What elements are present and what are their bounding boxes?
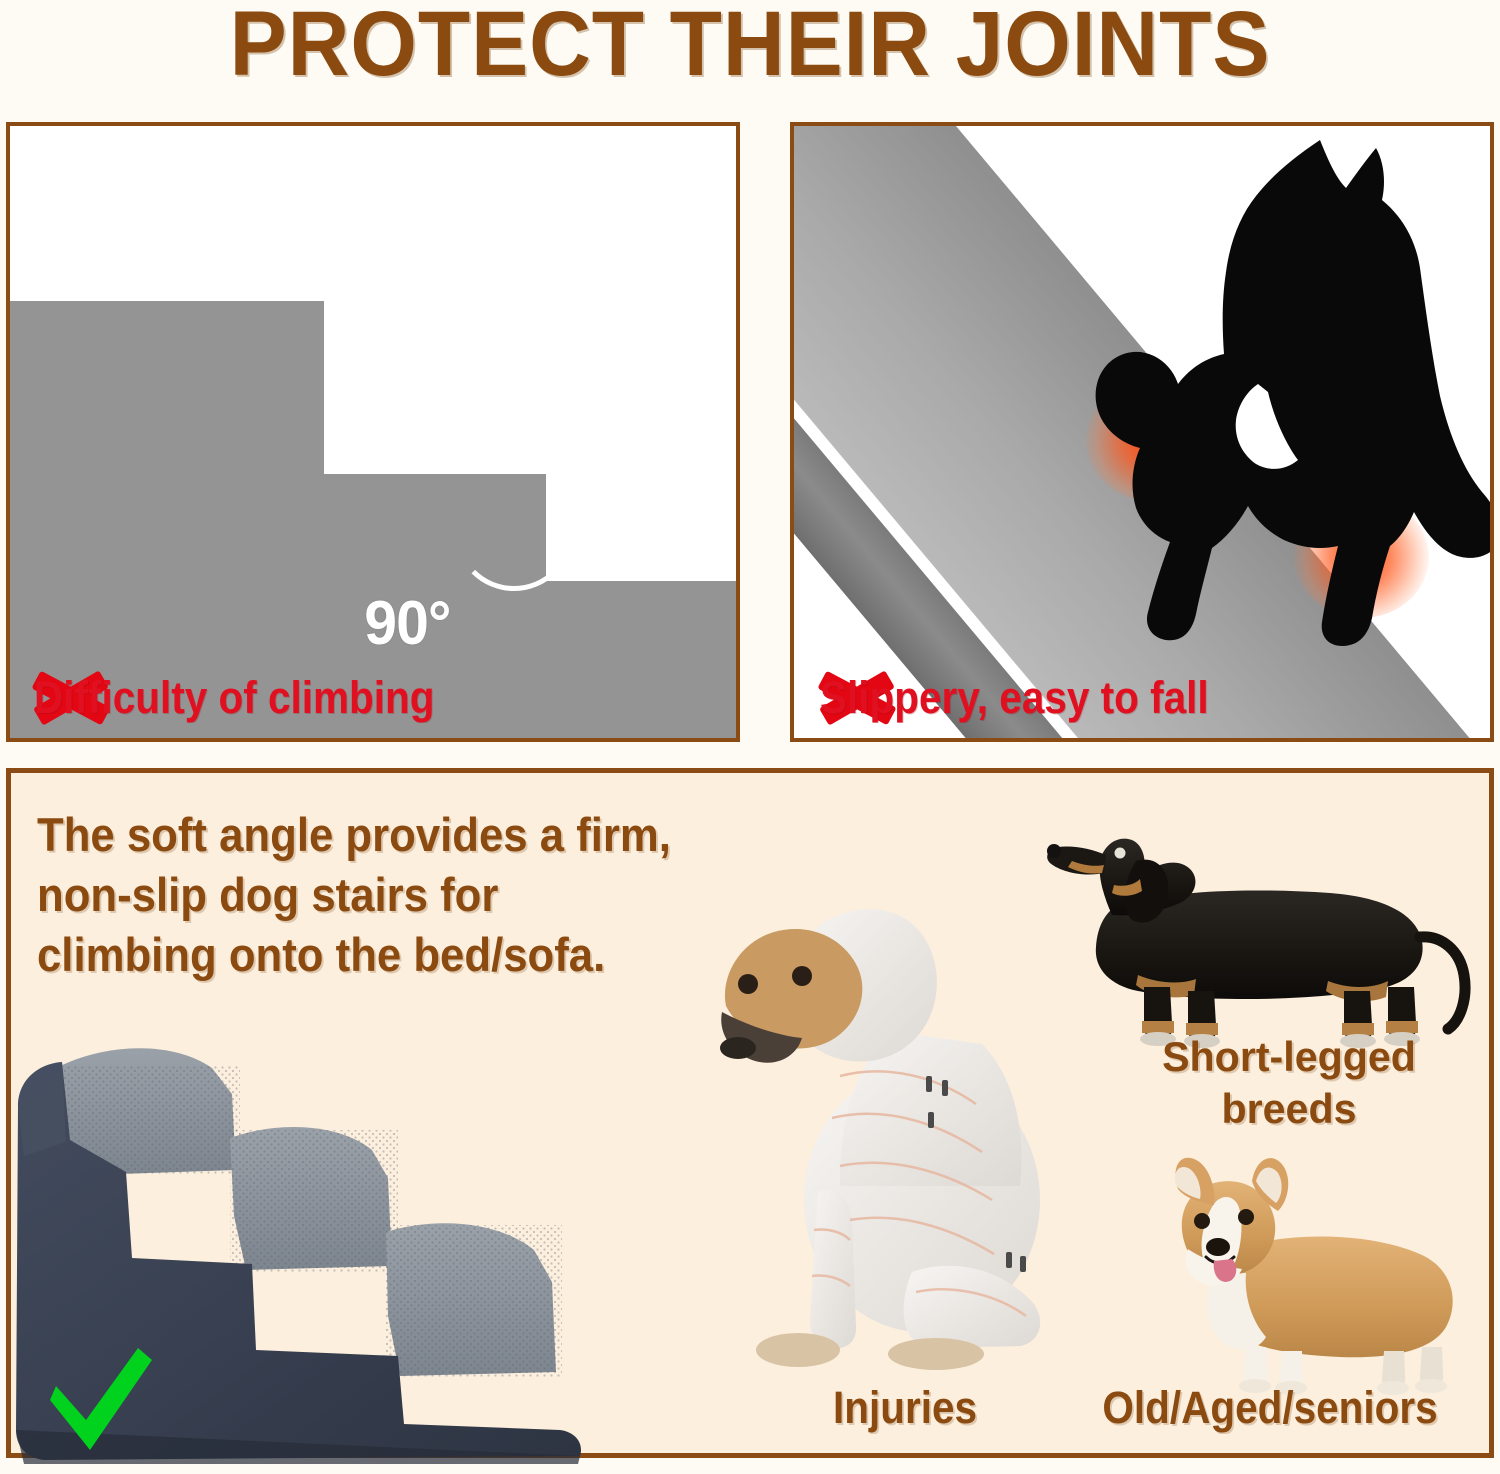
dog-silhouette-icon [984,126,1490,666]
panel-difficulty-of-climbing: 90° Difficulty of climbing [6,122,740,742]
infographic-stage: PROTECT THEIR JOINTS 90° Difficulty of c… [0,0,1500,1474]
panel-slippery-ramp: Slippery, easy to fall [790,122,1494,742]
photo-corgi [1140,1155,1470,1395]
caption-slippery-label: Slippery, easy to fall [820,672,1209,724]
label-short-legged-breeds: Short-legged breeds [1137,1031,1441,1135]
label-injuries: Injuries [811,1382,1000,1434]
ramp-icon [794,126,1490,738]
check-mark-icon [40,1342,160,1460]
step-stairs-icon: 90° [10,126,736,738]
photo-dachshund [1010,815,1480,1055]
page-title: PROTECT THEIR JOINTS [53,0,1448,94]
caption-difficulty: Difficulty of climbing [34,672,479,724]
right-angle-arc-icon [454,471,574,591]
stair-riser-low [546,581,740,742]
caption-slippery: Slippery, easy to fall [820,672,1252,724]
solution-blurb: The soft angle provides a firm, non-slip… [37,805,671,985]
label-old-aged-seniors: Old/Aged/seniors [1081,1382,1459,1434]
caption-difficulty-label: Difficulty of climbing [34,672,435,724]
angle-label: 90° [364,588,450,659]
